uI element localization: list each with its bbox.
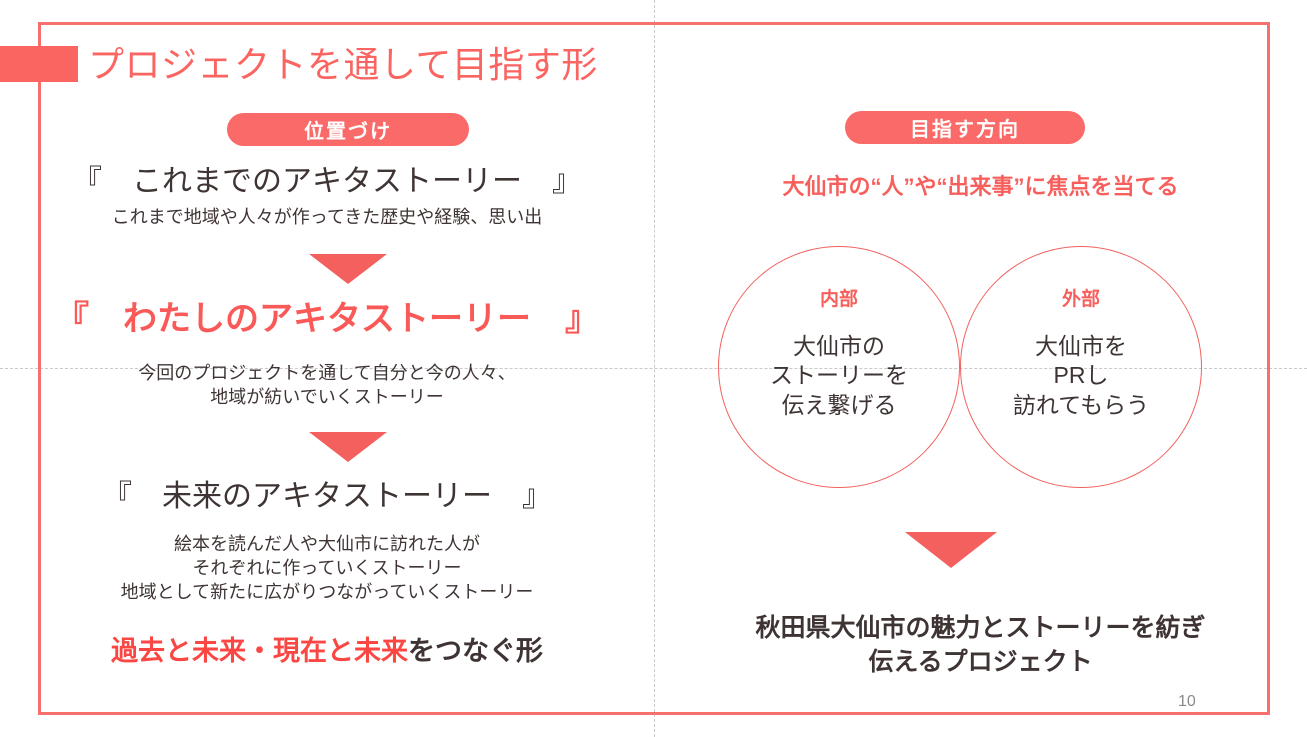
- badge-direction: 目指す方向: [845, 111, 1085, 144]
- tagline: 過去と未来・現在と未来をつなぐ形: [0, 634, 654, 670]
- story-subtitle-future-line2: それぞれに作っていくストーリー: [0, 557, 654, 581]
- venn-external-line1: 大仙市を: [986, 332, 1176, 361]
- focus-statement: 大仙市の“人”や“出来事”に焦点を当てる: [654, 172, 1307, 201]
- badge-positioning: 位置づけ: [227, 113, 469, 146]
- venn-label-external: 外部: [1001, 284, 1161, 311]
- tagline-rest: をつなぐ形: [408, 636, 543, 666]
- story-subtitle-future-line3: 地域として新たに広がりつながっていくストーリー: [0, 581, 654, 605]
- venn-label-internal: 内部: [759, 284, 919, 311]
- venn-external-line3: 訪れてもらう: [986, 391, 1176, 420]
- venn-internal-line3: 伝え繋げる: [744, 391, 934, 420]
- conclusion-line2: 伝えるプロジェクト: [654, 646, 1307, 680]
- page-number: 10: [1178, 693, 1196, 711]
- story-subtitle-present-line2: 地域が紡いでいくストーリー: [0, 386, 654, 410]
- page-title: プロジェクトを通して目指す形: [88, 36, 598, 88]
- story-subtitle-present-line1: 今回のプロジェクトを通して自分と今の人々、: [0, 362, 654, 386]
- venn-body-internal: 大仙市の ストーリーを 伝え繋げる: [744, 332, 934, 420]
- venn-internal-line1: 大仙市の: [744, 332, 934, 361]
- venn-body-external: 大仙市を PRし 訪れてもらう: [986, 332, 1176, 420]
- venn-diagram: 内部 外部 大仙市の ストーリーを 伝え繋げる 大仙市を PRし 訪れてもらう: [710, 222, 1210, 522]
- story-heading-past: 『 これまでのアキタストーリー 』: [0, 162, 654, 202]
- venn-internal-line2: ストーリーを: [744, 361, 934, 390]
- story-subtitle-future: 絵本を読んだ人や大仙市に訪れた人が それぞれに作っていくストーリー 地域として新…: [0, 533, 654, 604]
- story-subtitle-past: これまで地域や人々が作ってきた歴史や経験、思い出: [0, 206, 654, 230]
- down-arrow-icon-1: [309, 254, 387, 284]
- story-heading-future: 『 未来のアキタストーリー 』: [0, 477, 654, 517]
- tagline-highlight: 過去と未来・現在と未来: [111, 636, 408, 666]
- conclusion-line1: 秋田県大仙市の魅力とストーリーを紡ぎ: [654, 612, 1307, 646]
- story-subtitle-present: 今回のプロジェクトを通して自分と今の人々、 地域が紡いでいくストーリー: [0, 362, 654, 410]
- story-heading-present: 『 わたしのアキタストーリー 』: [0, 297, 654, 342]
- story-subtitle-future-line1: 絵本を読んだ人や大仙市に訪れた人が: [0, 533, 654, 557]
- venn-external-line2: PRし: [986, 361, 1176, 390]
- title-accent-block: [0, 46, 78, 82]
- down-arrow-icon-3: [905, 532, 997, 568]
- slide-canvas: プロジェクトを通して目指す形 位置づけ 『 これまでのアキタストーリー 』 これ…: [0, 0, 1307, 737]
- conclusion-statement: 秋田県大仙市の魅力とストーリーを紡ぎ 伝えるプロジェクト: [654, 612, 1307, 680]
- down-arrow-icon-2: [309, 432, 387, 462]
